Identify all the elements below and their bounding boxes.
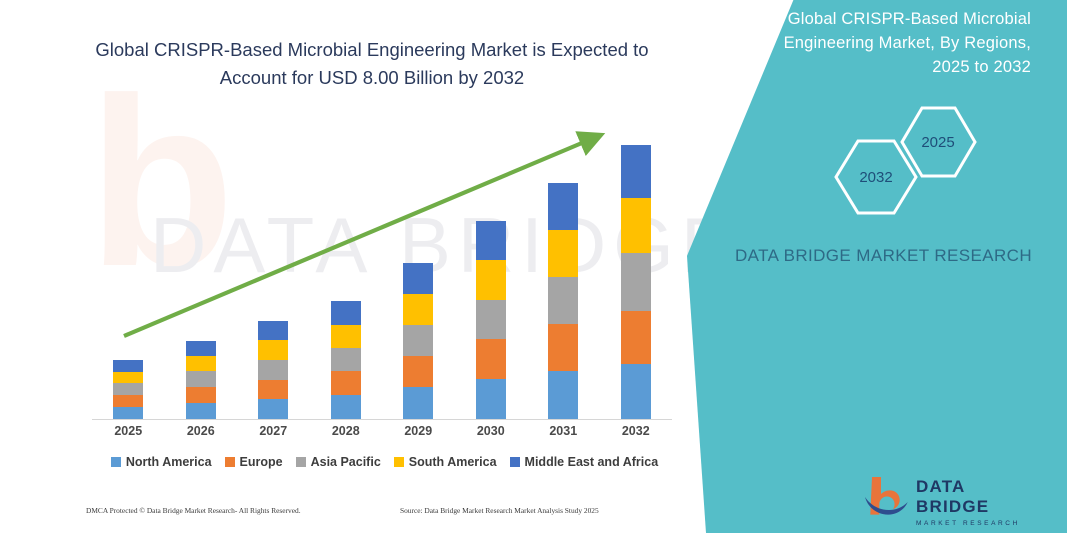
legend-swatch-icon bbox=[510, 457, 520, 467]
legend-label: Europe bbox=[240, 455, 283, 469]
x-axis-tick-2028: 2028 bbox=[316, 424, 376, 438]
legend-swatch-icon bbox=[111, 457, 121, 467]
bar-segment[interactable] bbox=[258, 321, 288, 340]
logo-wordmark: DATA BRIDGE MARKET RESEARCH bbox=[916, 477, 1042, 527]
bar-segment[interactable] bbox=[621, 198, 651, 253]
bar-segment[interactable] bbox=[258, 360, 288, 380]
x-axis-line bbox=[92, 419, 672, 420]
footer-copyright: DMCA Protected © Data Bridge Market Rese… bbox=[86, 506, 301, 515]
bar-segment[interactable] bbox=[113, 407, 143, 419]
legend-label: South America bbox=[409, 455, 497, 469]
panel-title: Global CRISPR-Based Microbial Engineerin… bbox=[761, 8, 1031, 80]
hexagon-start-year-label: 2025 bbox=[921, 134, 954, 151]
bar-segment[interactable] bbox=[113, 395, 143, 407]
legend-item[interactable]: Europe bbox=[225, 455, 283, 469]
bar-segment[interactable] bbox=[403, 356, 433, 387]
x-axis-tick-2031: 2031 bbox=[533, 424, 593, 438]
x-axis-tick-2027: 2027 bbox=[243, 424, 303, 438]
legend-swatch-icon bbox=[394, 457, 404, 467]
page-title: Global CRISPR-Based Microbial Engineerin… bbox=[62, 36, 682, 92]
bar-segment[interactable] bbox=[113, 360, 143, 372]
bar-segment[interactable] bbox=[258, 399, 288, 419]
company-logo: DATA BRIDGE MARKET RESEARCH bbox=[862, 473, 1042, 521]
bar-segment[interactable] bbox=[476, 379, 506, 419]
legend-swatch-icon bbox=[296, 457, 306, 467]
bar-2032[interactable] bbox=[621, 145, 651, 419]
footer: DMCA Protected © Data Bridge Market Rese… bbox=[0, 506, 700, 528]
bar-segment[interactable] bbox=[331, 371, 361, 395]
legend-item[interactable]: North America bbox=[111, 455, 212, 469]
bar-2030[interactable] bbox=[476, 221, 506, 419]
bar-segment[interactable] bbox=[403, 387, 433, 419]
legend-swatch-icon bbox=[225, 457, 235, 467]
bar-segment[interactable] bbox=[548, 324, 578, 371]
bar-segment[interactable] bbox=[186, 341, 216, 356]
bar-segment[interactable] bbox=[548, 371, 578, 419]
bar-2029[interactable] bbox=[403, 263, 433, 419]
infographic-root: b DATA BRIDGE MARKET RESEARCH Global CRI… bbox=[0, 0, 1067, 533]
stacked-bar-chart bbox=[92, 120, 682, 420]
bar-2026[interactable] bbox=[186, 341, 216, 419]
bar-segment[interactable] bbox=[621, 145, 651, 198]
bar-segment[interactable] bbox=[476, 260, 506, 299]
bar-segment[interactable] bbox=[403, 263, 433, 294]
bar-segment[interactable] bbox=[621, 311, 651, 364]
x-axis-tick-2032: 2032 bbox=[606, 424, 666, 438]
legend-item[interactable]: South America bbox=[394, 455, 497, 469]
legend-label: North America bbox=[126, 455, 212, 469]
bar-segment[interactable] bbox=[331, 325, 361, 348]
x-axis-tick-2030: 2030 bbox=[461, 424, 521, 438]
bar-segment[interactable] bbox=[476, 300, 506, 340]
bar-segment[interactable] bbox=[113, 383, 143, 395]
bar-2027[interactable] bbox=[258, 321, 288, 419]
legend-item[interactable]: Asia Pacific bbox=[296, 455, 381, 469]
bar-2025[interactable] bbox=[113, 360, 143, 419]
bar-group bbox=[92, 128, 672, 419]
bar-segment[interactable] bbox=[621, 364, 651, 419]
bar-segment[interactable] bbox=[258, 380, 288, 400]
legend-label: Middle East and Africa bbox=[525, 455, 659, 469]
logo-line1: DATA BRIDGE bbox=[916, 477, 1042, 517]
bar-segment[interactable] bbox=[476, 339, 506, 378]
bar-segment[interactable] bbox=[476, 221, 506, 260]
bar-segment[interactable] bbox=[548, 183, 578, 230]
legend-item[interactable]: Middle East and Africa bbox=[510, 455, 659, 469]
panel-brand-name: DATA BRIDGE MARKET RESEARCH bbox=[700, 243, 1067, 269]
bar-segment[interactable] bbox=[186, 387, 216, 402]
bar-segment[interactable] bbox=[186, 403, 216, 419]
hexagon-end-year-label: 2032 bbox=[859, 169, 892, 186]
bar-segment[interactable] bbox=[186, 356, 216, 371]
bar-2028[interactable] bbox=[331, 301, 361, 419]
x-axis-tick-2029: 2029 bbox=[388, 424, 448, 438]
chart-plot-area bbox=[92, 128, 682, 420]
hexagon-start-year: 2025 bbox=[898, 105, 978, 179]
bar-segment[interactable] bbox=[621, 253, 651, 311]
chart-legend: North AmericaEuropeAsia PacificSouth Ame… bbox=[92, 455, 677, 469]
logo-line2: MARKET RESEARCH bbox=[916, 520, 1042, 527]
bar-2031[interactable] bbox=[548, 183, 578, 419]
bar-segment[interactable] bbox=[548, 277, 578, 324]
x-axis-tick-2026: 2026 bbox=[171, 424, 231, 438]
bar-segment[interactable] bbox=[331, 348, 361, 372]
bar-segment[interactable] bbox=[113, 372, 143, 384]
bar-segment[interactable] bbox=[331, 395, 361, 419]
x-axis-tick-2025: 2025 bbox=[98, 424, 158, 438]
bar-segment[interactable] bbox=[548, 230, 578, 277]
bar-segment[interactable] bbox=[403, 325, 433, 356]
bar-segment[interactable] bbox=[186, 371, 216, 387]
x-axis-labels: 20252026202720282029203020312032 bbox=[92, 424, 672, 438]
legend-label: Asia Pacific bbox=[311, 455, 381, 469]
bar-segment[interactable] bbox=[258, 340, 288, 360]
bar-segment[interactable] bbox=[403, 294, 433, 325]
data-bridge-logo-icon bbox=[862, 473, 910, 519]
bar-segment[interactable] bbox=[331, 301, 361, 324]
footer-source: Source: Data Bridge Market Research Mark… bbox=[400, 506, 599, 515]
